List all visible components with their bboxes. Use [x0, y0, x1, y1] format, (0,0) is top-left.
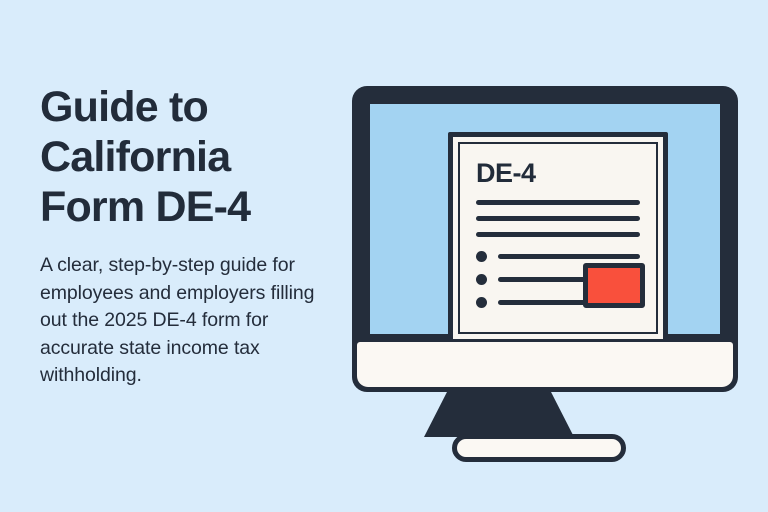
de4-document: DE-4: [448, 132, 668, 344]
bullet-dot-icon: [476, 297, 487, 308]
poster-canvas: Guide to California Form DE-4 A clear, s…: [0, 0, 768, 512]
page-title: Guide to California Form DE-4: [40, 82, 350, 232]
bullet-text-line: [498, 254, 640, 259]
bullet-text-line: [498, 277, 594, 282]
bullet-dot-icon: [476, 251, 487, 262]
page-subtitle: A clear, step-by-step guide for employee…: [40, 252, 345, 390]
monitor-screen: DE-4: [370, 104, 720, 334]
monitor-stand-base: [452, 434, 626, 462]
monitor-chin: [357, 342, 733, 387]
bullet-text-line: [498, 300, 594, 305]
monitor-illustration: DE-4: [352, 86, 738, 392]
document-inner-border: DE-4: [458, 142, 658, 334]
list-item: [476, 251, 640, 262]
document-text-line-2: [476, 216, 640, 221]
highlight-red-block: [583, 263, 645, 308]
hero-text-column: Guide to California Form DE-4 A clear, s…: [40, 82, 350, 390]
bullet-dot-icon: [476, 274, 487, 285]
document-text-line-1: [476, 200, 640, 205]
document-title: DE-4: [476, 158, 640, 188]
monitor-stand-neck: [424, 390, 574, 437]
document-text-line-3: [476, 232, 640, 237]
